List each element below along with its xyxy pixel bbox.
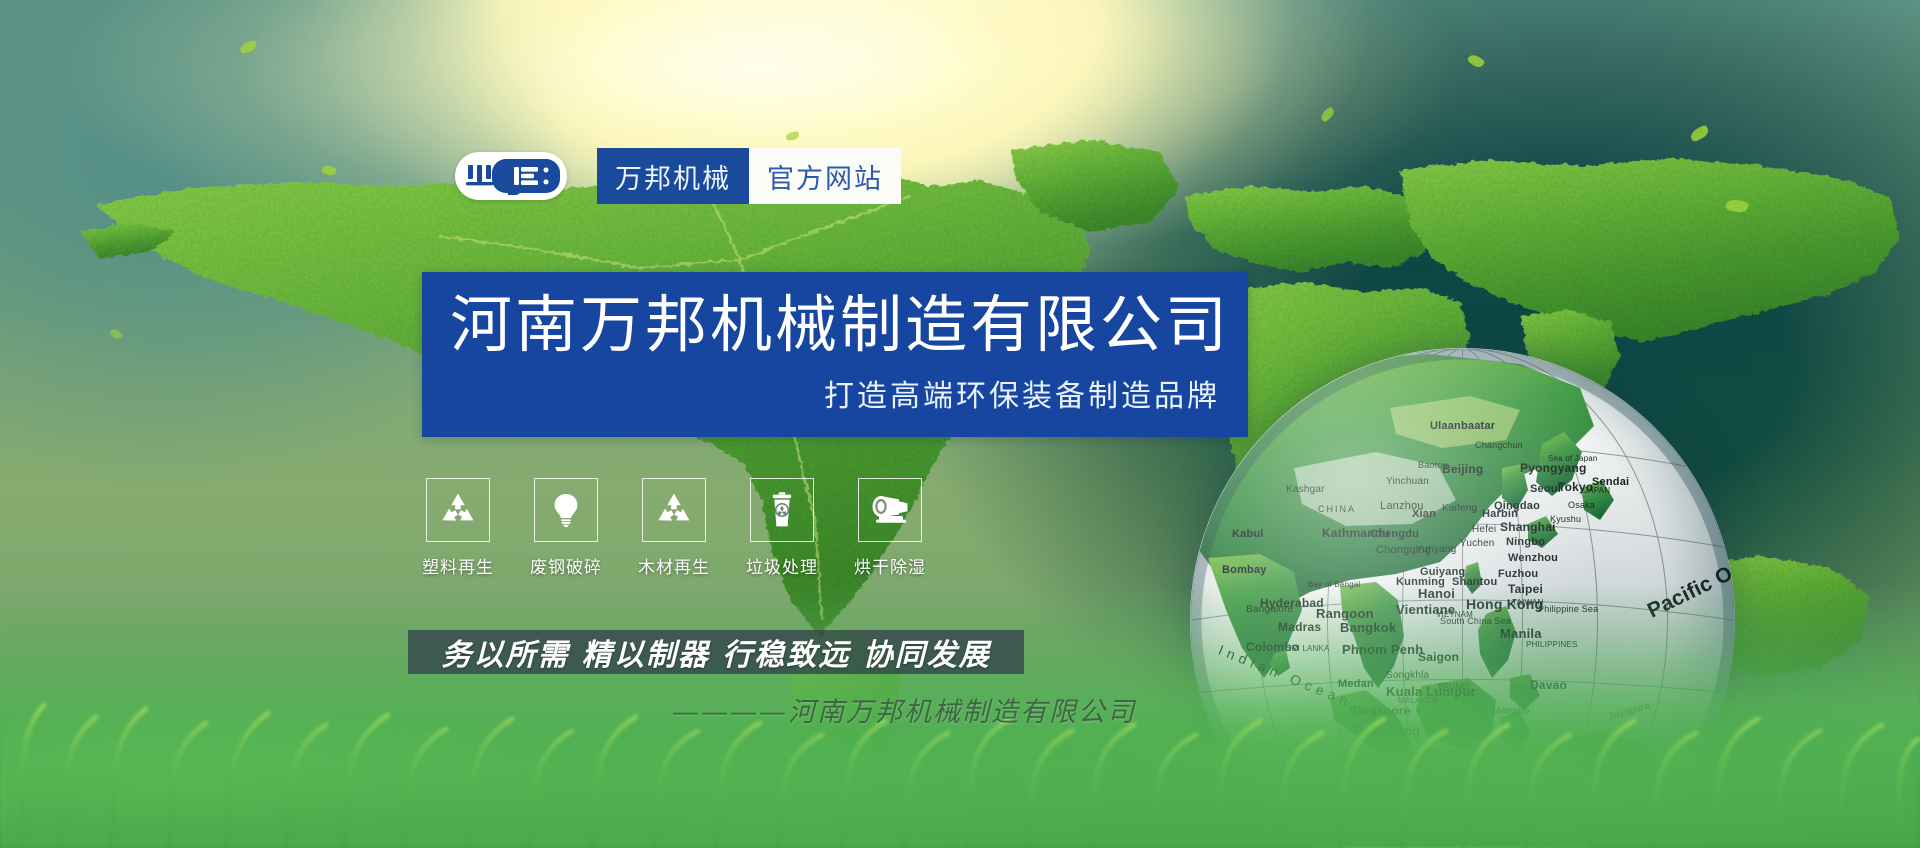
feature-item-wood-recycling[interactable]: 木材再生 [634, 478, 714, 578]
recycle-icon [642, 478, 706, 542]
tab-wanbang-jixie[interactable]: 万邦机械 [597, 148, 749, 204]
dryer-blower-icon [858, 478, 922, 542]
slogan-calligraphy-text: 务以所需 精以制器 行稳致远 协同发展 [441, 630, 990, 674]
tab-official-website[interactable]: 官方网站 [749, 148, 901, 204]
feature-icon-row: 塑料再生 废钢破碎 木材再生 [418, 478, 930, 578]
feature-label: 烘干除湿 [854, 553, 926, 578]
slogan-attribution: ————河南万邦机械制造有限公司 [672, 690, 1192, 729]
hero-banner: Ulaanbaatar Beijing Baotou Changchun Pyo… [0, 0, 1920, 848]
slogan-bar: 务以所需 精以制器 行稳致远 协同发展 [408, 630, 1024, 674]
feature-label: 废钢破碎 [530, 553, 602, 578]
feature-item-waste-treatment[interactable]: 垃圾处理 [742, 478, 822, 578]
feature-item-scrap-steel-crushing[interactable]: 废钢破碎 [526, 478, 606, 578]
company-name-title: 河南万邦机械制造有限公司 [450, 292, 1220, 357]
recycle-icon [426, 478, 490, 542]
wanbang-logo[interactable] [455, 152, 567, 200]
feature-label: 垃圾处理 [746, 553, 818, 578]
lightbulb-icon [534, 478, 598, 542]
company-banner: 河南万邦机械制造有限公司 打造高端环保装备制造品牌 [422, 272, 1248, 437]
company-slogan-subtitle: 打造高端环保装备制造品牌 [450, 371, 1220, 415]
feature-label: 塑料再生 [422, 553, 494, 578]
header-tabs: 万邦机械 官方网站 [597, 148, 901, 204]
logo-mark-icon [462, 157, 560, 195]
site-header: 万邦机械 官方网站 [455, 148, 901, 204]
feature-label: 木材再生 [638, 553, 710, 578]
feature-item-plastic-recycling[interactable]: 塑料再生 [418, 478, 498, 578]
trash-bin-recycle-icon [750, 478, 814, 542]
feature-item-drying-dehumidifying[interactable]: 烘干除湿 [850, 478, 930, 578]
